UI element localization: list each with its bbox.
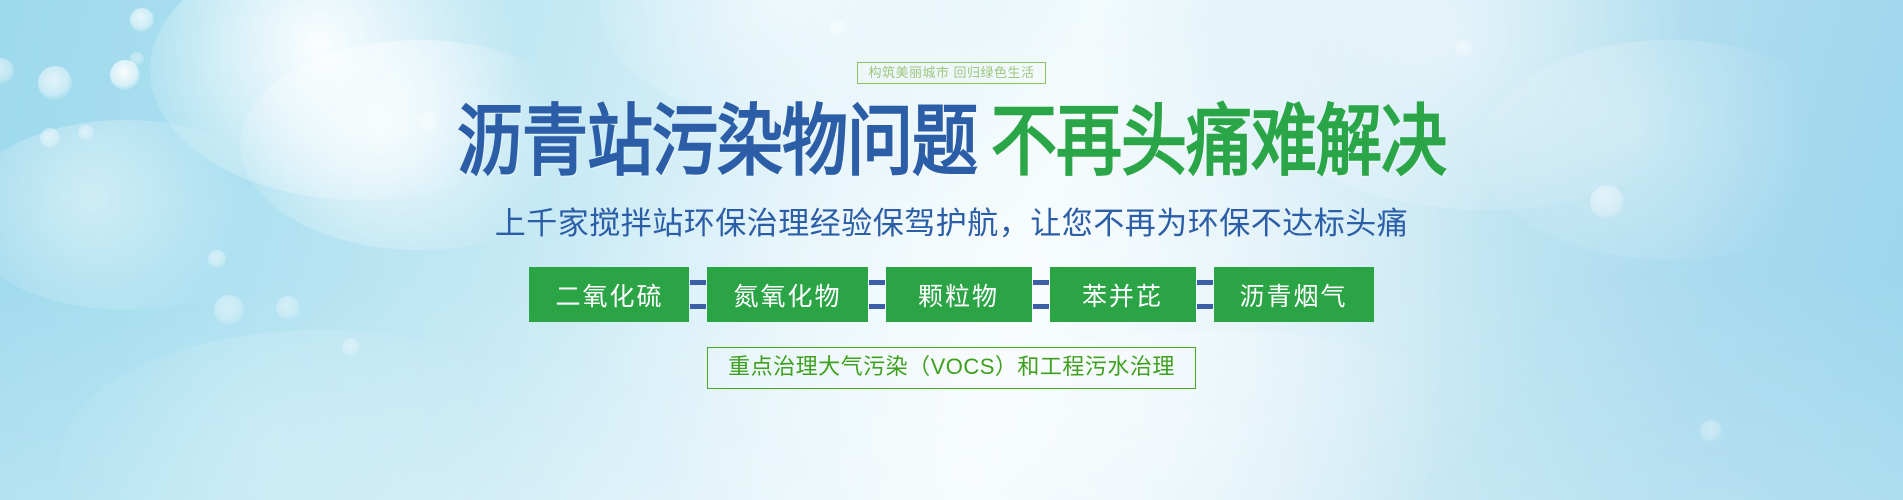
- tag-separator-icon: [1032, 267, 1050, 322]
- eyebrow-tagline: 构筑美丽城市 回归绿色生活: [857, 62, 1045, 84]
- page-title: 沥青站污染物问题不再头痛难解决: [457, 102, 1446, 180]
- tag-separator-icon: [868, 267, 886, 322]
- headline-part-green: 不再头痛难解决: [991, 97, 1446, 184]
- tag-separator-icon: [1196, 267, 1214, 322]
- subheadline: 上千家搅拌站环保治理经验保驾护航，让您不再为环保不达标头痛: [495, 198, 1409, 243]
- tag-separator-icon: [689, 267, 707, 322]
- pollutant-tag-row: 二氧化硫 氮氧化物 颗粒物 苯并芘 沥青烟气: [529, 267, 1373, 322]
- hero-banner: 构筑美丽城市 回归绿色生活 沥青站污染物问题不再头痛难解决 上千家搅拌站环保治理…: [0, 0, 1903, 500]
- banner-content: 构筑美丽城市 回归绿色生活 沥青站污染物问题不再头痛难解决 上千家搅拌站环保治理…: [0, 0, 1903, 500]
- tag-item[interactable]: 氮氧化物: [707, 267, 867, 322]
- tag-item[interactable]: 二氧化硫: [529, 267, 689, 322]
- tag-item[interactable]: 沥青烟气: [1214, 267, 1374, 322]
- tag-item[interactable]: 苯并芘: [1050, 267, 1196, 322]
- headline-part-blue: 沥青站污染物问题: [457, 97, 977, 184]
- tag-item[interactable]: 颗粒物: [886, 267, 1032, 322]
- footnote-banner: 重点治理大气污染（VOCS）和工程污水治理: [707, 347, 1196, 389]
